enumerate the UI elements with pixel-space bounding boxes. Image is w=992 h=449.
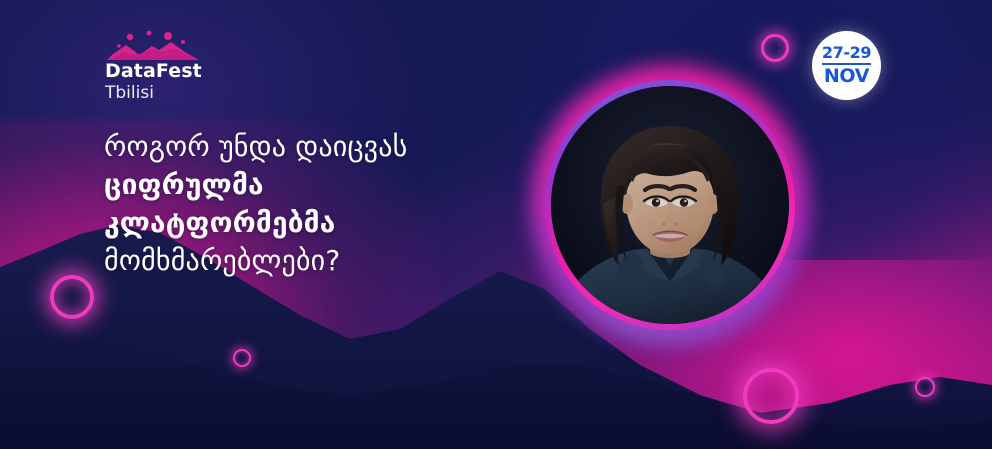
ring-bottom-right	[743, 368, 799, 424]
portrait-illustration	[551, 86, 789, 324]
logo-title: DataFest	[105, 61, 255, 82]
headline-line-2: ციფრულმა	[104, 166, 534, 204]
speaker-portrait	[532, 67, 808, 343]
portrait-photo	[551, 86, 789, 324]
headline: როგორ უნდა დაიცვას ციფრულმა კლატფორმებმა…	[104, 128, 534, 280]
headline-line-3: კლატფორმებმა	[104, 204, 534, 242]
datafest-logo[interactable]: DataFest Tbilisi	[105, 30, 255, 103]
headline-line-4: მომხმარებლები?	[104, 242, 534, 280]
ring-top-right	[761, 34, 789, 62]
datafest-banner: DataFest Tbilisi 27-29 NOV როგორ უნდა და…	[0, 0, 992, 449]
date-badge-month: NOV	[824, 67, 869, 86]
ring-far-right	[915, 377, 935, 397]
ring-small-mid	[233, 349, 251, 367]
headline-line-1: როგორ უნდა დაიცვას	[104, 128, 534, 166]
mountain-peaks-icon	[107, 30, 199, 60]
date-badge[interactable]: 27-29 NOV	[812, 31, 881, 100]
ring-left	[50, 275, 94, 319]
date-badge-days: 27-29	[822, 45, 871, 65]
logo-subtitle: Tbilisi	[105, 83, 255, 103]
